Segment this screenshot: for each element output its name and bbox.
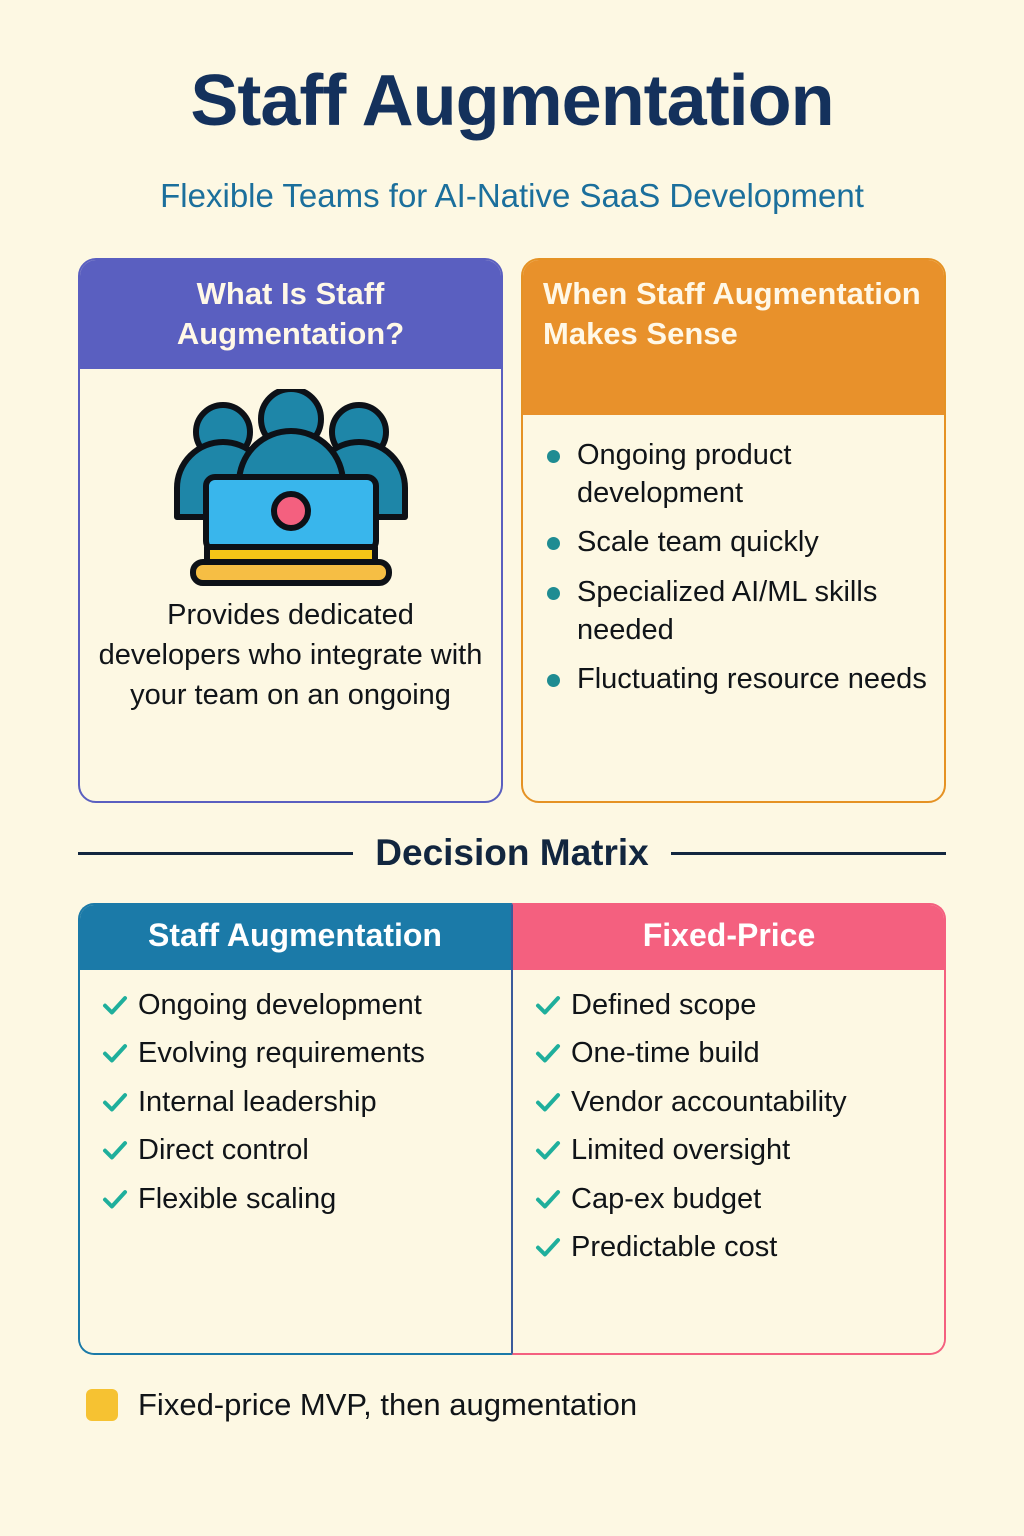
footnote: Fixed-price MVP, then augmentation: [86, 1388, 637, 1422]
team-laptop-illustration: [96, 383, 485, 589]
matrix-column-header: Staff Augmentation: [78, 903, 512, 970]
check-icon: [100, 1087, 130, 1117]
divider-rule-left: [78, 852, 353, 855]
top-cards-row: What Is Staff Augmentation?: [78, 258, 946, 803]
list-item-label: Internal leadership: [138, 1086, 377, 1118]
card-left-description: Provides dedicated developers who integr…: [96, 589, 485, 715]
check-icon: [533, 1232, 563, 1262]
matrix-column-fixed-price: Fixed-Price Defined scope One-time build…: [512, 903, 946, 1355]
legend-swatch-icon: [86, 1389, 118, 1421]
check-icon: [100, 1184, 130, 1214]
list-item: Direct control: [96, 1133, 497, 1168]
check-icon: [533, 1135, 563, 1165]
list-item: Evolving requirements: [96, 1036, 497, 1071]
check-icon: [100, 1038, 130, 1068]
list-item-label: Ongoing development: [138, 989, 422, 1021]
list-item-label: Vendor accountability: [571, 1086, 847, 1118]
card-what-is-staff-augmentation: What Is Staff Augmentation?: [78, 258, 503, 803]
list-item: Flexible scaling: [96, 1182, 497, 1217]
check-icon: [533, 990, 563, 1020]
list-item: Ongoing product development: [539, 437, 928, 512]
list-item: Internal leadership: [96, 1085, 497, 1120]
bullet-dot-icon: [547, 587, 560, 600]
card-left-heading: What Is Staff Augmentation?: [80, 260, 501, 369]
bullet-dot-icon: [547, 674, 560, 687]
page-title: Staff Augmentation: [0, 64, 1024, 140]
card-left-body: Provides dedicated developers who integr…: [80, 369, 501, 801]
when-makes-sense-list: Ongoing product development Scale team q…: [539, 429, 928, 699]
decision-matrix-title: Decision Matrix: [375, 832, 648, 874]
bullet-dot-icon: [547, 537, 560, 550]
infographic-page: Staff Augmentation Flexible Teams for AI…: [0, 0, 1024, 1536]
check-icon: [533, 1038, 563, 1068]
card-when-makes-sense: When Staff Augmentation Makes Sense Ongo…: [521, 258, 946, 803]
bullet-dot-icon: [547, 450, 560, 463]
list-item: Specialized AI/ML skills needed: [539, 574, 928, 649]
matrix-column-body: Ongoing development Evolving requirement…: [80, 970, 511, 1353]
list-item-label: Specialized AI/ML skills needed: [577, 576, 877, 646]
list-item-label: Cap-ex budget: [571, 1183, 761, 1215]
list-item: Limited oversight: [529, 1133, 930, 1168]
decision-matrix-divider: Decision Matrix: [78, 832, 946, 874]
staff-augmentation-checklist: Ongoing development Evolving requirement…: [96, 988, 497, 1217]
fixed-price-checklist: Defined scope One-time build Vendor acco…: [529, 988, 930, 1265]
list-item-label: Ongoing product development: [577, 439, 791, 509]
list-item: Cap-ex budget: [529, 1182, 930, 1217]
list-item-label: Flexible scaling: [138, 1183, 336, 1215]
check-icon: [100, 1135, 130, 1165]
list-item-label: Defined scope: [571, 989, 756, 1021]
matrix-column-body: Defined scope One-time build Vendor acco…: [513, 970, 944, 1353]
page-subtitle: Flexible Teams for AI-Native SaaS Develo…: [0, 176, 1024, 216]
card-right-body: Ongoing product development Scale team q…: [523, 415, 944, 801]
list-item: Ongoing development: [96, 988, 497, 1023]
check-icon: [533, 1184, 563, 1214]
list-item-label: Direct control: [138, 1134, 309, 1166]
matrix-column-staff-augmentation: Staff Augmentation Ongoing development E…: [78, 903, 512, 1355]
matrix-column-header: Fixed-Price: [512, 903, 946, 970]
card-right-heading: When Staff Augmentation Makes Sense: [523, 260, 944, 415]
list-item-label: Predictable cost: [571, 1231, 777, 1263]
list-item-label: Fluctuating resource needs: [577, 663, 927, 695]
list-item-label: Scale team quickly: [577, 526, 819, 558]
list-item: Scale team quickly: [539, 524, 928, 562]
check-icon: [100, 990, 130, 1020]
list-item: One-time build: [529, 1036, 930, 1071]
decision-matrix: Staff Augmentation Ongoing development E…: [78, 903, 946, 1355]
footnote-label: Fixed-price MVP, then augmentation: [138, 1388, 637, 1422]
list-item-label: One-time build: [571, 1037, 760, 1069]
list-item-label: Evolving requirements: [138, 1037, 425, 1069]
list-item: Predictable cost: [529, 1230, 930, 1265]
list-item: Defined scope: [529, 988, 930, 1023]
list-item-label: Limited oversight: [571, 1134, 790, 1166]
list-item: Fluctuating resource needs: [539, 661, 928, 699]
list-item: Vendor accountability: [529, 1085, 930, 1120]
check-icon: [533, 1087, 563, 1117]
divider-rule-right: [671, 852, 946, 855]
